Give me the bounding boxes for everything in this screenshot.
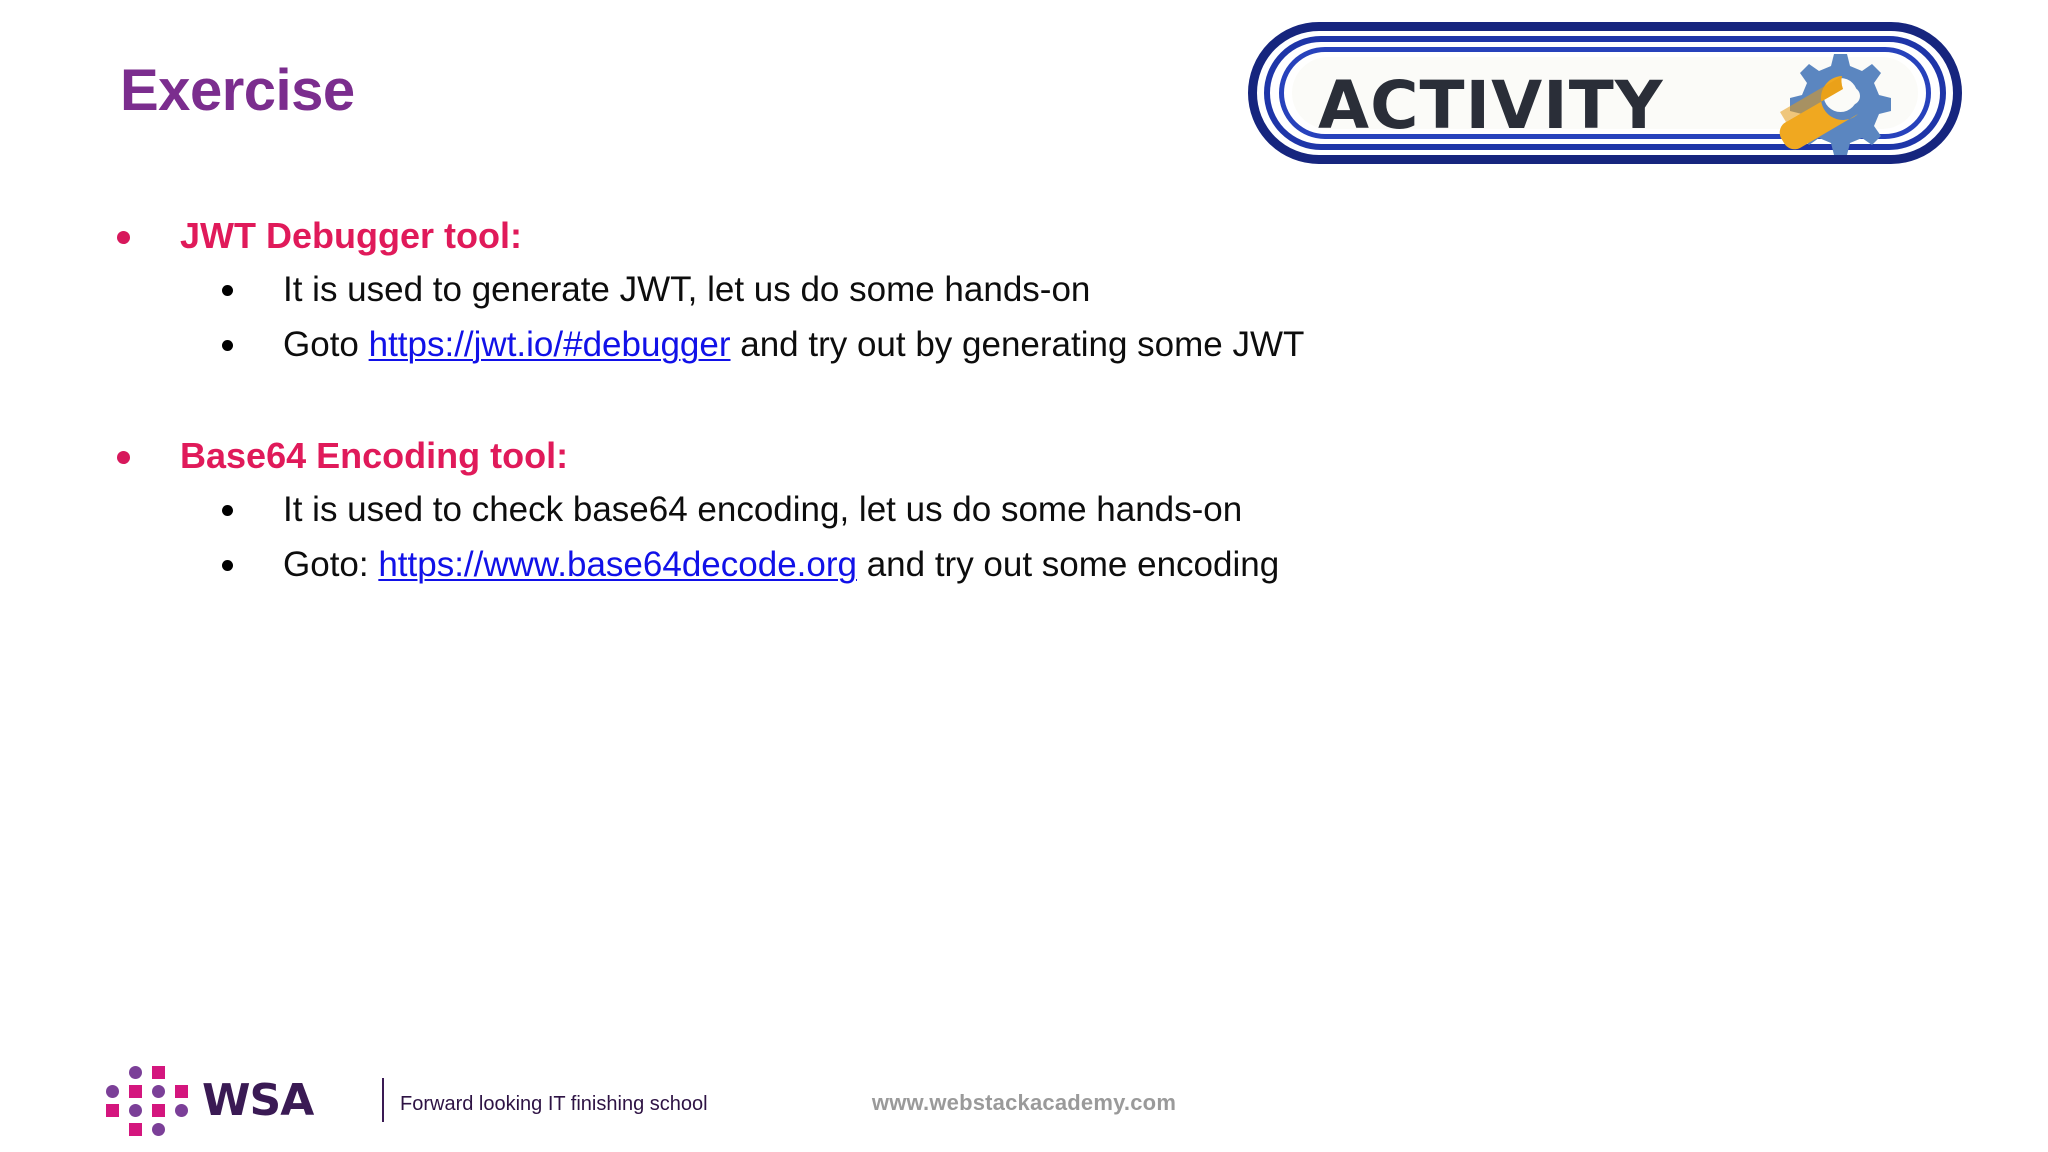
list-item-text-after: and try out by generating some JWT: [731, 325, 1305, 364]
bullet-dot-icon: [222, 340, 233, 351]
list-item: It is used to generate JWT, let us do so…: [0, 262, 2048, 317]
bullet-dot-icon: [222, 285, 233, 296]
content-group: JWT Debugger tool: It is used to generat…: [0, 210, 2048, 372]
bullet-dot-icon: [222, 560, 233, 571]
section-heading-label: Base64 Encoding tool:: [180, 435, 568, 476]
list-item-text-before: Goto: [283, 325, 369, 364]
list-item-text-before: Goto:: [283, 545, 378, 584]
jwt-debugger-link[interactable]: https://jwt.io/#debugger: [369, 325, 731, 364]
list-item-text-after: and try out some encoding: [857, 545, 1279, 584]
slide-body: JWT Debugger tool: It is used to generat…: [0, 210, 2048, 592]
gear-wrench-icon: [1738, 36, 1918, 156]
activity-badge-label: ACTIVITY: [1318, 72, 1664, 140]
list-item: It is used to check base64 encoding, let…: [0, 482, 2048, 537]
base64decode-link[interactable]: https://www.base64decode.org: [378, 545, 857, 584]
section-heading: Base64 Encoding tool:: [0, 430, 2048, 482]
list-item: Goto: https://www.base64decode.org and t…: [0, 537, 2048, 592]
list-item-text: It is used to generate JWT, let us do so…: [283, 270, 1090, 309]
bullet-dot-icon: [117, 451, 130, 464]
page-title: Exercise: [120, 62, 355, 120]
list-item: Goto https://jwt.io/#debugger and try ou…: [0, 317, 2048, 372]
footer-url: www.webstackacademy.com: [0, 1090, 2048, 1116]
activity-badge: ACTIVITY: [1248, 22, 1962, 164]
content-group: Base64 Encoding tool: It is used to chec…: [0, 430, 2048, 592]
list-item-text: It is used to check base64 encoding, let…: [283, 490, 1242, 529]
section-heading-label: JWT Debugger tool:: [180, 215, 522, 256]
bullet-dot-icon: [222, 505, 233, 516]
bullet-dot-icon: [117, 231, 130, 244]
section-heading: JWT Debugger tool:: [0, 210, 2048, 262]
